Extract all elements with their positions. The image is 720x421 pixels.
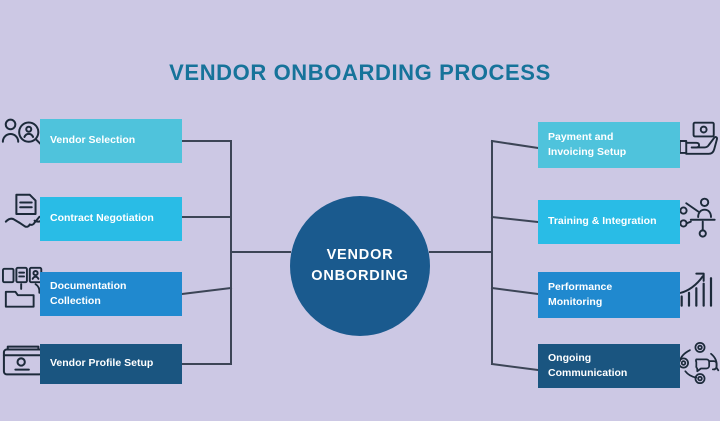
step-box-payment-invoicing-setup[interactable]: Payment and Invoicing Setup <box>538 122 680 168</box>
step-box-training-integration[interactable]: Training & Integration <box>538 200 680 244</box>
step-label: Documentation <box>50 279 126 294</box>
step-box-vendor-selection[interactable]: Vendor Selection <box>40 119 182 163</box>
step-box-contract-negotiation[interactable]: Contract Negotiation <box>40 197 182 241</box>
step-label: Contract Negotiation <box>50 211 154 226</box>
step-label: Vendor Selection <box>50 133 135 148</box>
growth-chart-icon <box>678 268 720 314</box>
communication-cycle-icon <box>678 340 720 386</box>
step-box-vendor-profile-setup[interactable]: Vendor Profile Setup <box>40 344 182 384</box>
step-label: Invoicing Setup <box>548 145 626 160</box>
page-title: VENDOR ONBOARDING PROCESS <box>0 60 720 86</box>
hub-label-line2: ONBORDING <box>311 266 408 287</box>
step-label: Payment and <box>548 130 626 145</box>
step-label: Training & Integration <box>548 214 657 229</box>
step-label: Collection <box>50 294 126 309</box>
step-label: Performance <box>548 280 612 295</box>
step-label: Monitoring <box>548 295 612 310</box>
step-label: Ongoing <box>548 351 627 366</box>
hub-label-line1: VENDOR <box>327 245 394 266</box>
step-box-documentation-collection[interactable]: Documentation Collection <box>40 272 182 316</box>
training-network-icon <box>678 194 720 240</box>
step-label: Vendor Profile Setup <box>50 356 153 371</box>
diagram-canvas: VENDOR ONBOARDING PROCESS VENDOR ONBORDI… <box>0 0 720 421</box>
hand-money-invoice-icon <box>678 118 720 164</box>
central-hub: VENDOR ONBORDING <box>290 196 430 336</box>
step-box-ongoing-communication[interactable]: Ongoing Communication <box>538 344 680 388</box>
step-label: Communication <box>548 366 627 381</box>
step-box-performance-monitoring[interactable]: Performance Monitoring <box>538 272 680 318</box>
